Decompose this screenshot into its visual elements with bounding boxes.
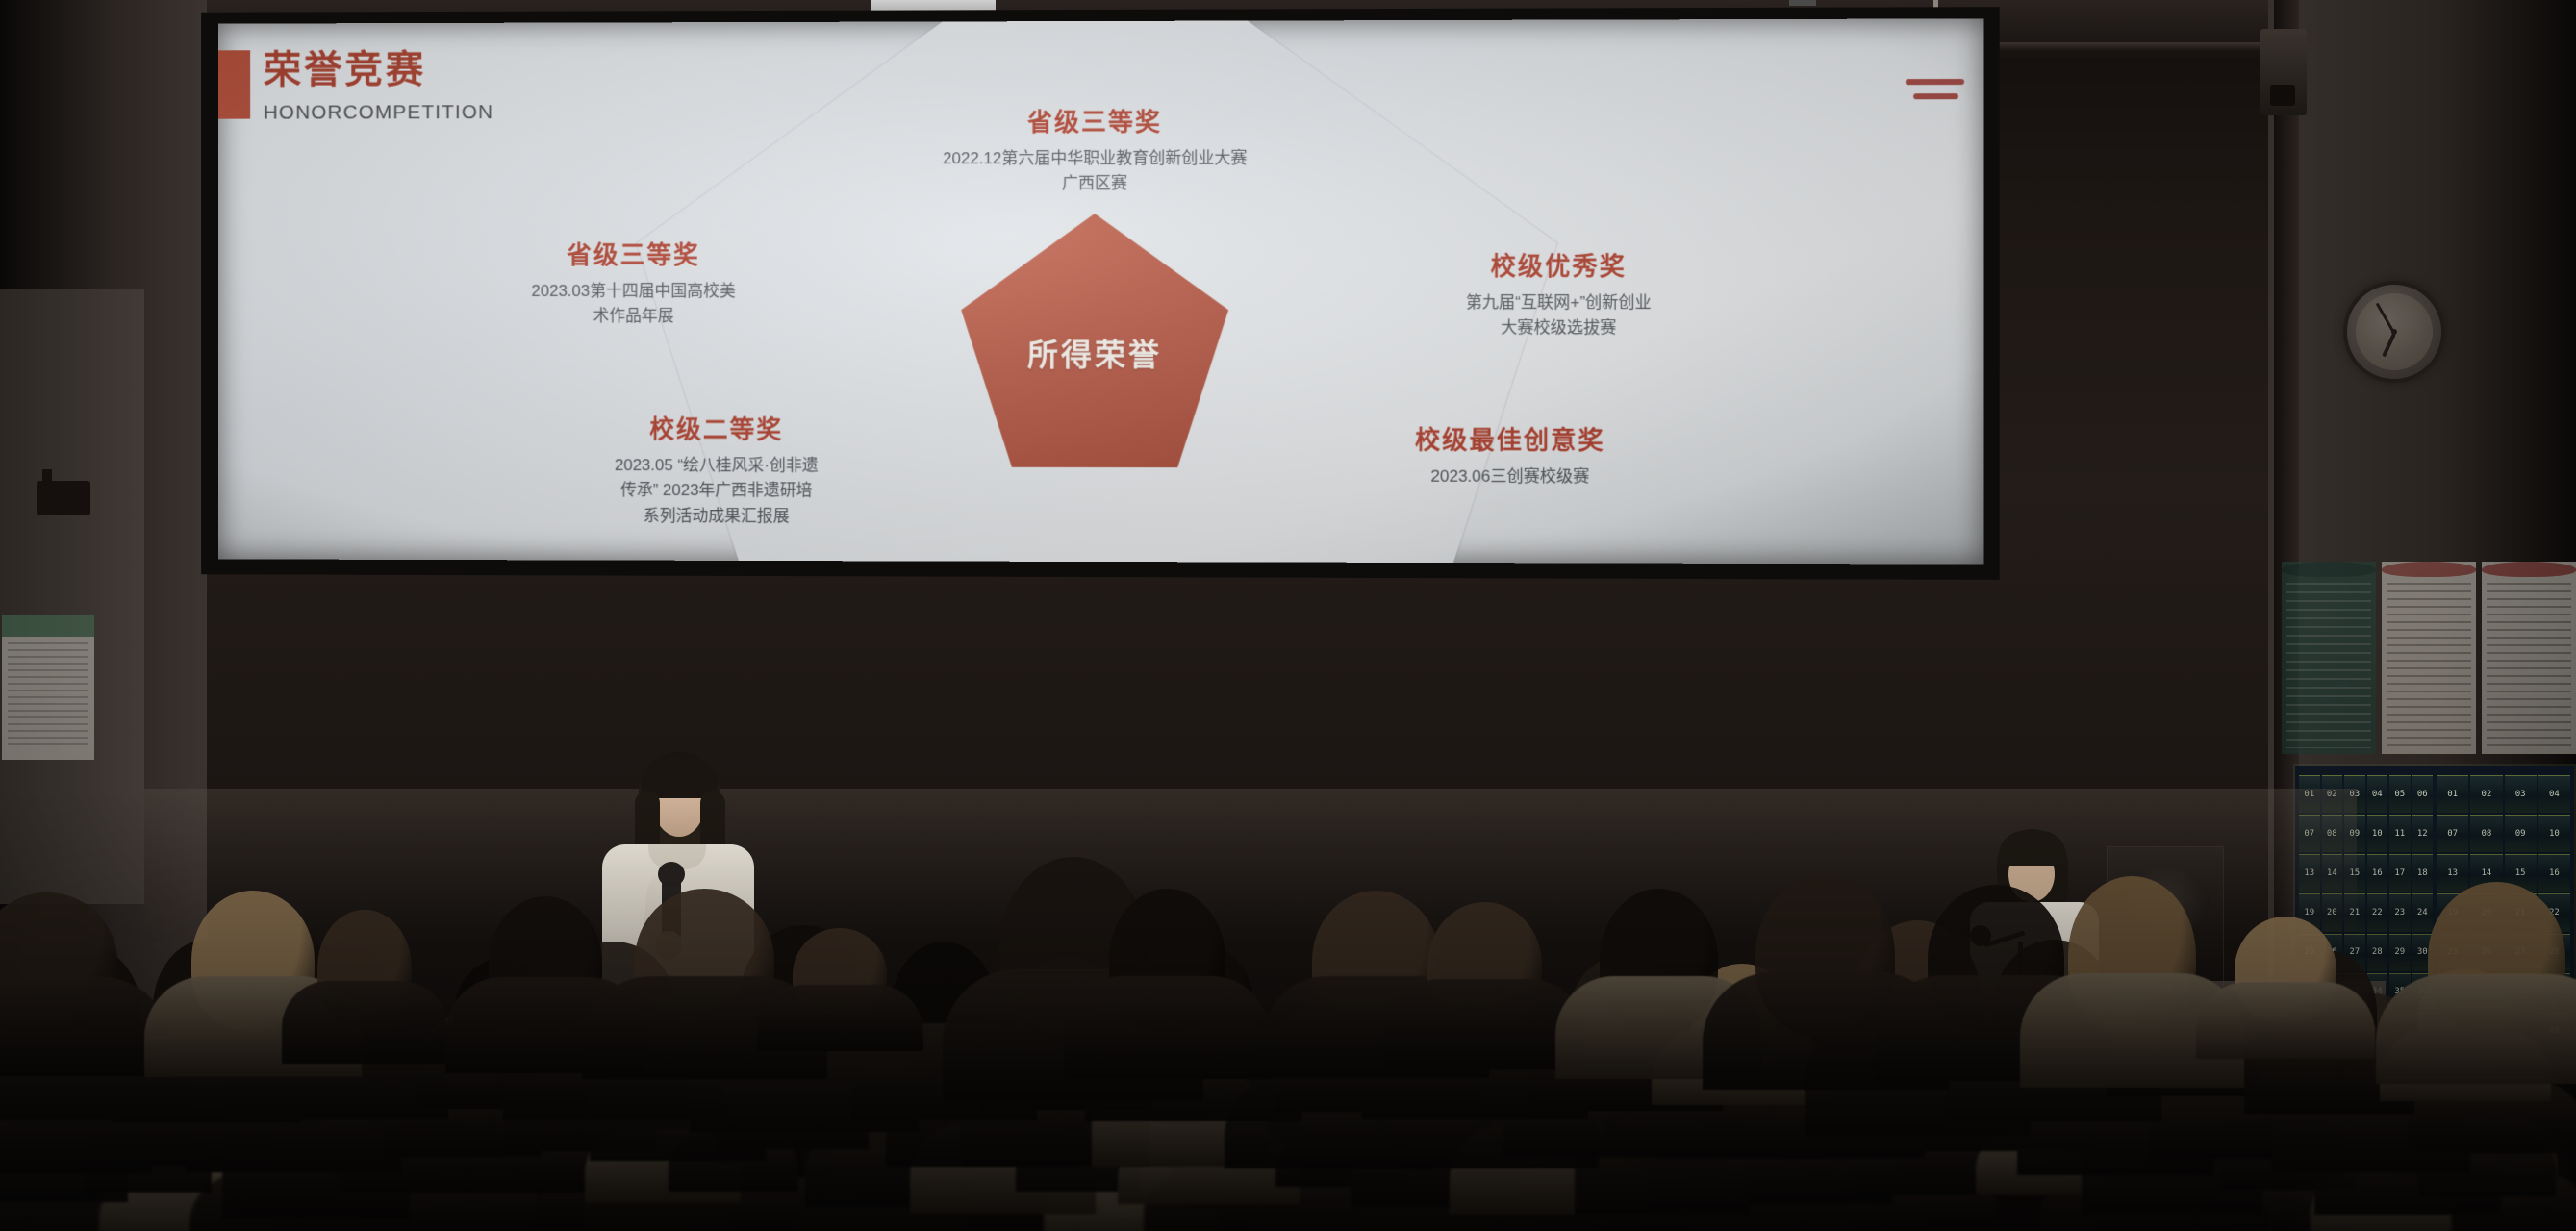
wall-clock-icon (2347, 285, 2441, 379)
node-top: 省级三等奖 2022.12第六届中华职业教育创新创业大赛 广西区赛 (936, 103, 1253, 197)
node-bottom-right: 校级最佳创意奖 2023.06三创赛校级赛 (1365, 420, 1656, 490)
node-detail-line: 第九届“互联网+”创新创业 (1413, 290, 1705, 316)
poster-header-band (2482, 562, 2576, 577)
pentagon-diagram: 所得荣誉 省级三等奖 2022.12第六届中华职业教育创新创业大赛 广西区赛 省… (531, 112, 1666, 565)
node-detail: 第九届“互联网+”创新创业 大赛校级选拔赛 (1413, 290, 1705, 341)
slide-content: 荣誉竞赛 HONORCOMPETITION 所得荣誉 省级三等奖 2022.12… (218, 18, 1984, 564)
audience-silhouettes (0, 789, 2576, 1231)
node-detail-line: 传承” 2023年广西非遗研培 (568, 478, 864, 504)
deco-line-1 (1906, 79, 1964, 85)
poster-text-lines (8, 642, 88, 750)
node-award-title: 校级二等奖 (568, 410, 864, 445)
node-right: 校级优秀奖 第九届“互联网+”创新创业 大赛校级选拔赛 (1413, 247, 1705, 341)
poster-text-lines (2286, 583, 2371, 748)
poster-text-lines (2387, 583, 2471, 748)
node-award-title: 省级三等奖 (491, 236, 776, 271)
node-detail-line: 2022.12第六届中华职业教育创新创业大赛 (936, 146, 1253, 172)
title-accent-bar (218, 50, 250, 118)
poster-flowchart (2282, 562, 2376, 754)
node-award-title: 校级最佳创意奖 (1365, 420, 1656, 457)
node-detail-line: 广西区赛 (936, 171, 1253, 197)
presentation-slide: 荣誉竞赛 HONORCOMPETITION 所得荣誉 省级三等奖 2022.12… (218, 18, 1984, 564)
poster-notice-1 (2382, 562, 2476, 754)
slide-title: 荣誉竞赛 (264, 50, 426, 90)
node-award-title: 省级三等奖 (936, 103, 1253, 139)
node-detail: 2023.06三创赛校级赛 (1365, 465, 1656, 490)
left-wall-poster (2, 615, 94, 760)
node-detail-line: 术作品年展 (491, 304, 776, 329)
node-detail-line: 大赛校级选拔赛 (1413, 315, 1705, 341)
node-detail-line: 系列活动成果汇报展 (568, 503, 864, 529)
center-pentagon-label: 所得荣誉 (1027, 331, 1162, 375)
node-detail-line: 2023.06三创赛校级赛 (1365, 465, 1656, 490)
node-award-title: 校级优秀奖 (1413, 247, 1705, 283)
clock-face (2356, 293, 2433, 370)
audience-shoulders (2196, 982, 2375, 1059)
wall-mounted-device-icon (2260, 29, 2307, 115)
screenshot-root: 0102030405060708091011121314151617181920… (0, 0, 2576, 1231)
node-detail: 2022.12第六届中华职业教育创新创业大赛 广西区赛 (936, 146, 1253, 197)
node-bottom-left: 校级二等奖 2023.05 “绘八桂风采·创非遗 传承” 2023年广西非遗研培… (568, 410, 864, 529)
slide-subtitle: HONORCOMPETITION (264, 101, 493, 124)
poster-notice-2 (2482, 562, 2576, 754)
audience-shoulders (282, 981, 446, 1065)
deco-line-2 (1913, 93, 1958, 99)
node-left: 省级三等奖 2023.03第十四届中国高校美 术作品年展 (491, 236, 776, 329)
projector-mount (1789, 0, 1816, 6)
clock-hour-hand (2382, 333, 2396, 357)
audience-shoulders (1064, 976, 1270, 1079)
clock-center-pin (2391, 329, 2397, 335)
audience-shoulders (757, 985, 923, 1052)
poster-header-band (2, 615, 94, 637)
poster-header-band (2382, 562, 2476, 577)
audience-shoulders (2376, 974, 2576, 1083)
node-detail: 2023.03第十四届中国高校美 术作品年展 (491, 279, 776, 330)
poster-text-lines (2487, 583, 2571, 748)
node-detail-line: 2023.03第十四届中国高校美 (491, 279, 776, 304)
node-detail-line: 2023.05 “绘八桂风采·创非遗 (568, 453, 864, 479)
right-wall-posters (2282, 562, 2576, 754)
node-detail: 2023.05 “绘八桂风采·创非遗 传承” 2023年广西非遗研培 系列活动成… (568, 453, 864, 529)
decorative-lines-icon (1906, 79, 1964, 108)
wall-fixture-icon (37, 481, 90, 515)
poster-header-band (2282, 562, 2376, 577)
